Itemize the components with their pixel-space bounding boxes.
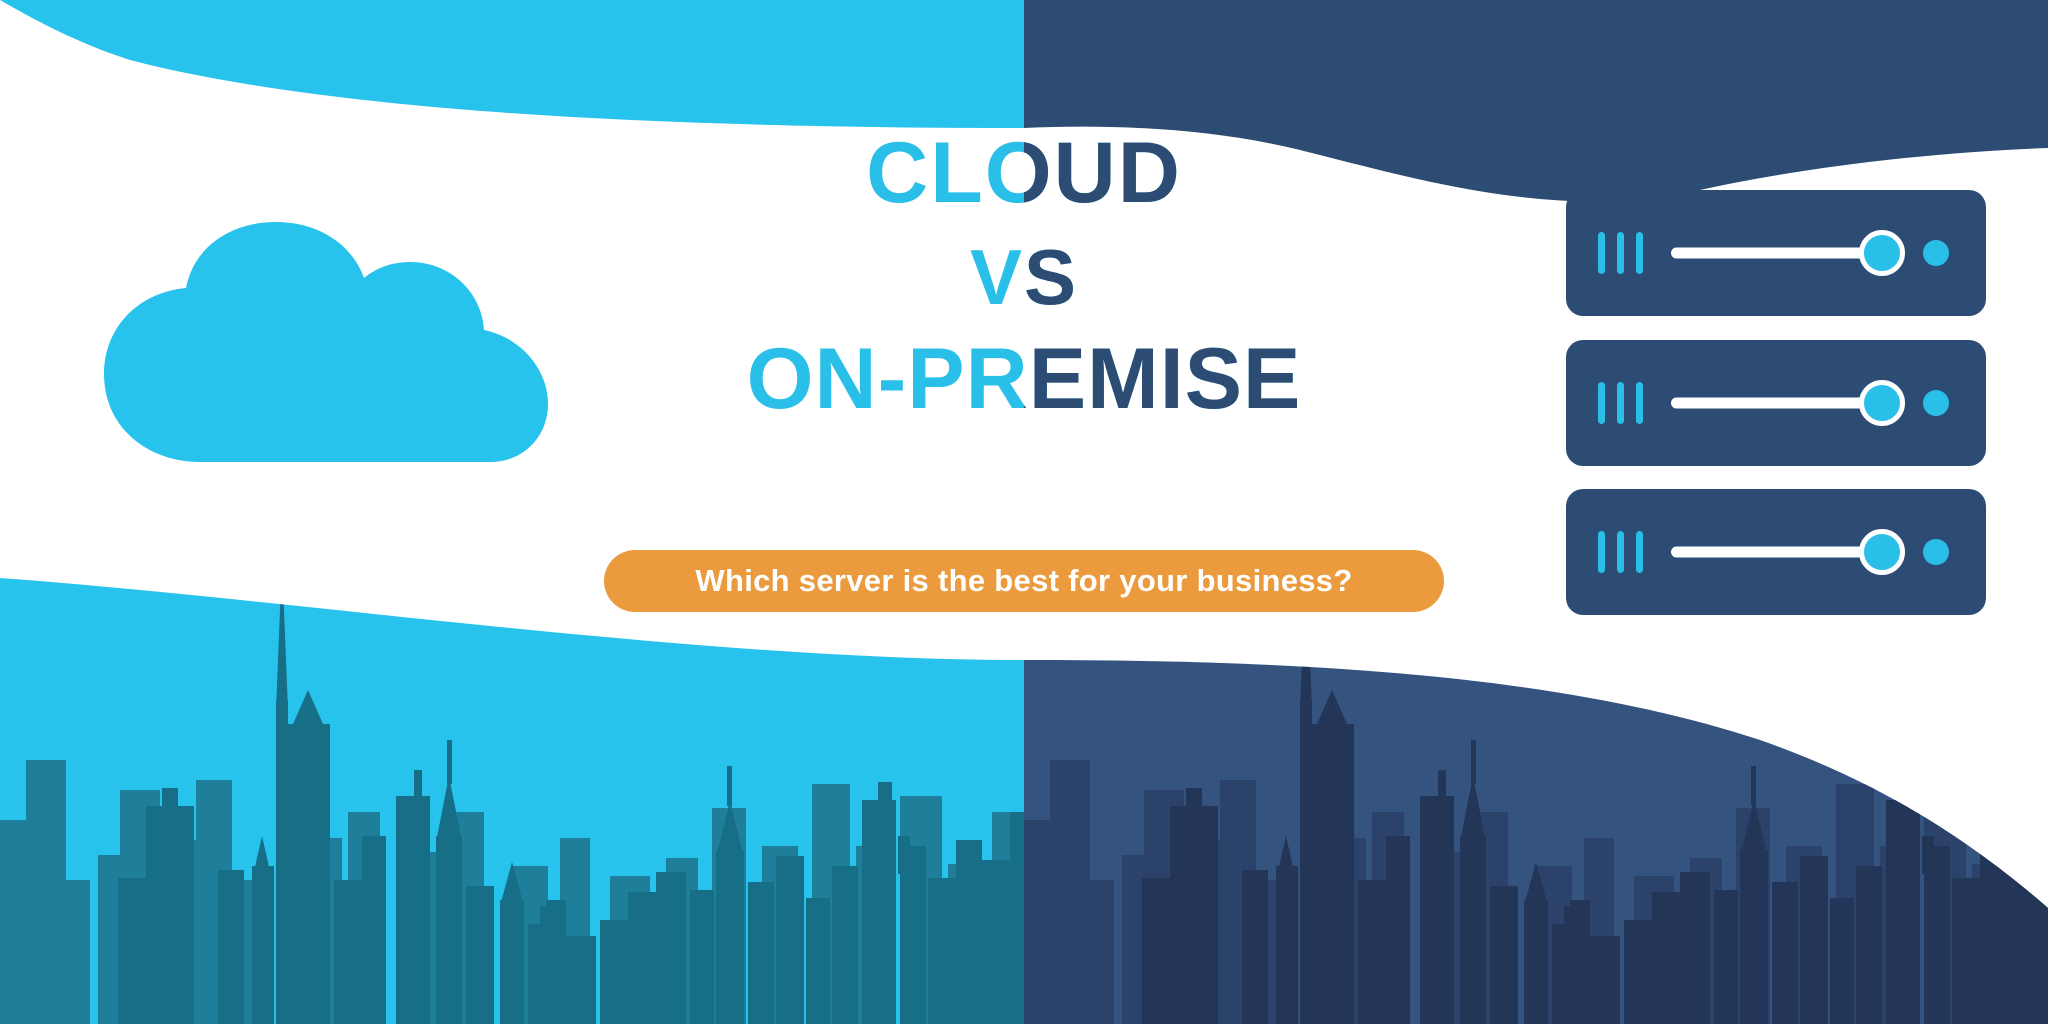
headline-block: CLOUD CLOUD VS VS ON-PREMISE ON-PREMISE: [512, 130, 1536, 490]
slider-track: [1671, 547, 1891, 558]
vent-bar: [1617, 382, 1624, 424]
server-vent-icon: [1598, 531, 1643, 573]
server-unit: [1566, 190, 1986, 316]
vent-bar: [1636, 382, 1643, 424]
slider-knob: [1859, 529, 1905, 575]
vent-bar: [1617, 531, 1624, 573]
server-vent-icon: [1598, 382, 1643, 424]
slider-knob: [1859, 380, 1905, 426]
vent-bar: [1598, 531, 1605, 573]
vent-bar: [1617, 232, 1624, 274]
server-unit: [1566, 340, 1986, 466]
slider-track: [1671, 248, 1891, 259]
cloud-icon: [78, 222, 578, 462]
subtitle-text: Which server is the best for your busine…: [695, 563, 1352, 599]
subtitle-banner: Which server is the best for your busine…: [604, 550, 1444, 612]
server-rack-graphic: [1566, 190, 1986, 615]
slider-knob: [1859, 230, 1905, 276]
headline-line-vs-left: VS: [512, 238, 1536, 316]
vent-bar: [1598, 232, 1605, 274]
server-unit: [1566, 489, 1986, 615]
status-indicator-dot: [1923, 240, 1949, 266]
poster-canvas: CLOUD CLOUD VS VS ON-PREMISE ON-PREMISE …: [0, 0, 2048, 1024]
headline-line-cloud: CLOUD CLOUD: [512, 130, 1536, 216]
headline-line-cloud-left: CLOUD: [512, 130, 1536, 216]
vent-bar: [1636, 232, 1643, 274]
vent-bar: [1598, 382, 1605, 424]
server-vent-icon: [1598, 232, 1643, 274]
vent-bar: [1636, 531, 1643, 573]
slider-track: [1671, 397, 1891, 408]
headline-line-onpremise-left: ON-PREMISE: [512, 336, 1536, 422]
status-indicator-dot: [1923, 390, 1949, 416]
headline-line-onpremise: ON-PREMISE ON-PREMISE: [512, 336, 1536, 422]
status-indicator-dot: [1923, 539, 1949, 565]
headline-line-vs: VS VS: [512, 238, 1536, 316]
cloud-graphic: [78, 222, 578, 462]
